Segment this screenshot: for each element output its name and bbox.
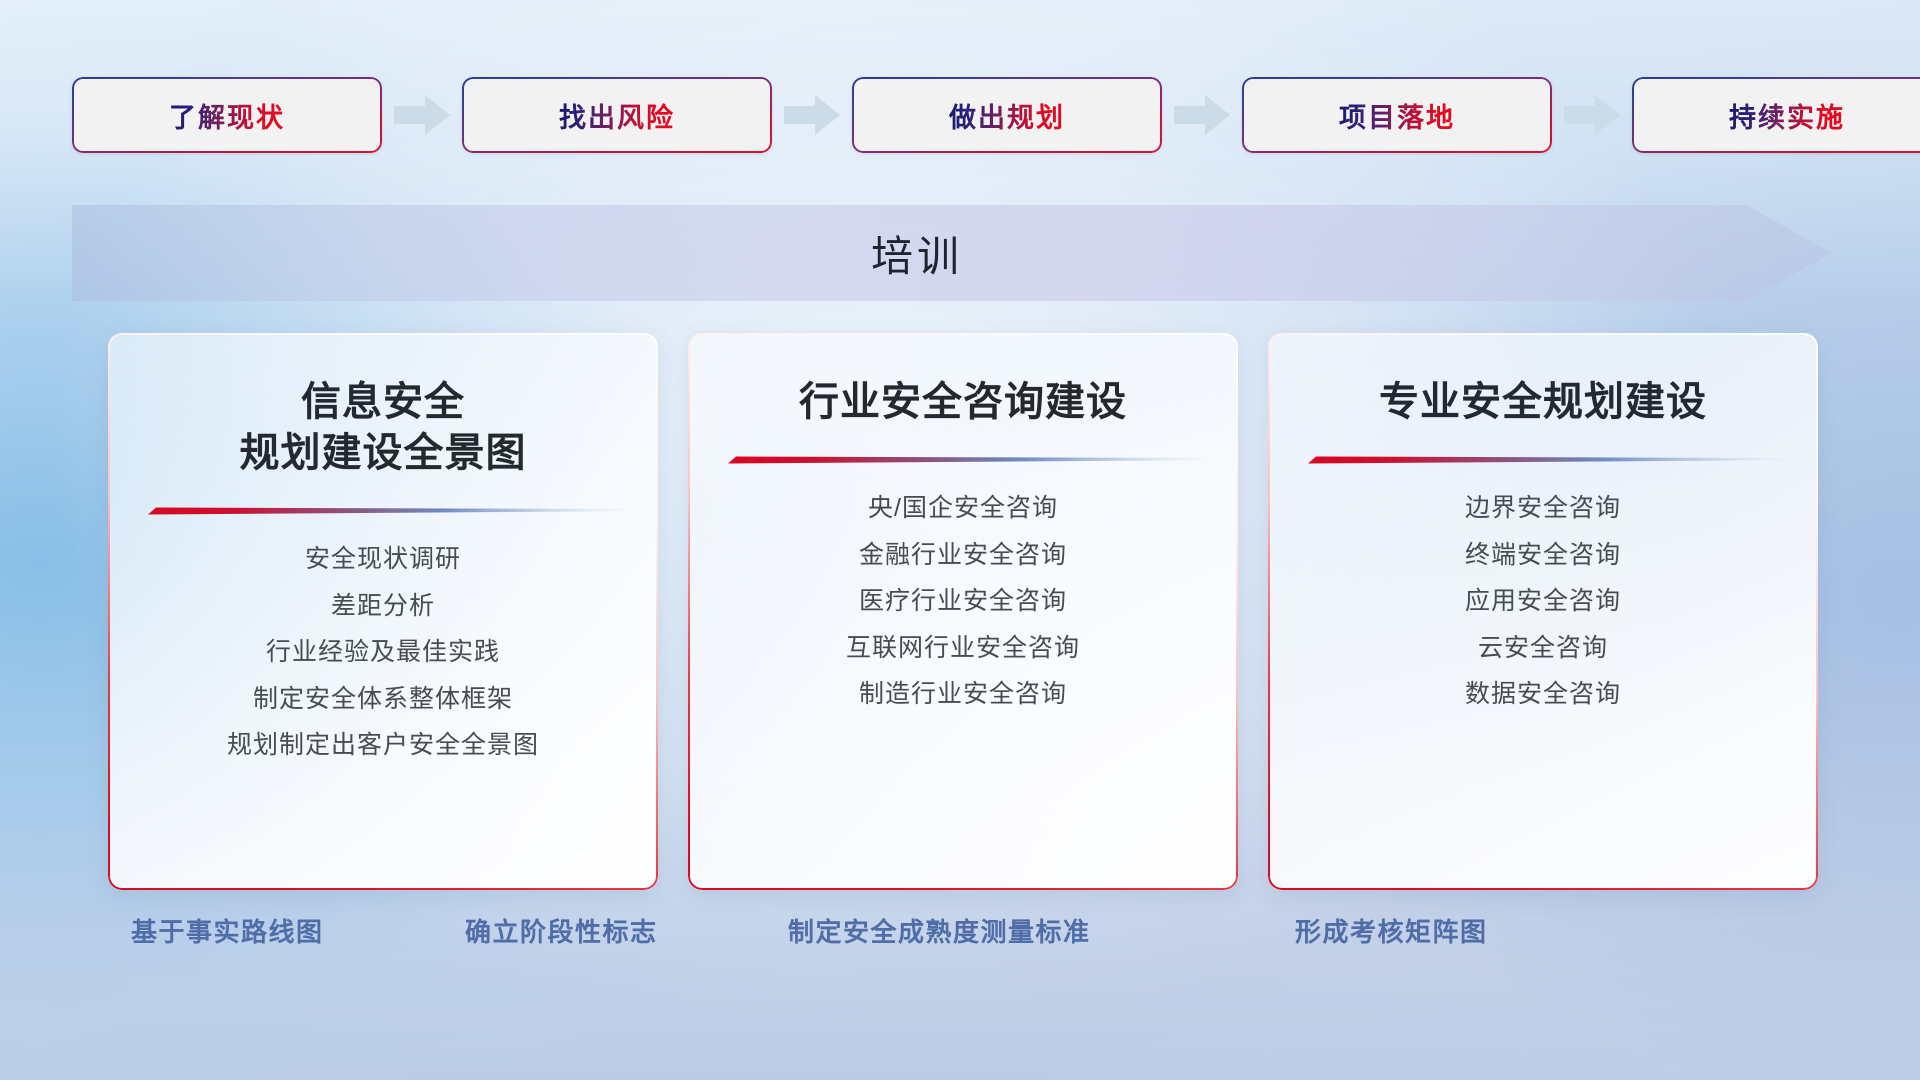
outcome-caption-4: 形成考核矩阵图 bbox=[1295, 912, 1488, 949]
step-arrow-icon bbox=[784, 95, 840, 135]
service-card-divider bbox=[722, 454, 1204, 466]
service-card-1[interactable]: 信息安全 规划建设全景图安全现状调研差距分析行业经验及最佳实践制定安全体系整体框… bbox=[108, 333, 658, 890]
step-arrow-icon bbox=[1174, 95, 1230, 135]
caption-row: 基于事实路线图确立阶段性标志制定安全成熟度测量标准形成考核矩阵图 bbox=[0, 912, 1920, 958]
service-card-title: 行业安全咨询建设 bbox=[799, 377, 1127, 428]
training-banner-title: 培训 bbox=[72, 205, 1832, 301]
process-step-flow: 了解现状找出风险做出规划项目落地持续实施 bbox=[72, 77, 1850, 153]
process-step-label: 了解现状 bbox=[169, 96, 285, 135]
service-card-list-item: 规划制定出客户安全全景图 bbox=[227, 729, 539, 762]
service-card-2[interactable]: 行业安全咨询建设央/国企安全咨询金融行业安全咨询医疗行业安全咨询互联网行业安全咨… bbox=[688, 333, 1238, 890]
service-card-list: 央/国企安全咨询金融行业安全咨询医疗行业安全咨询互联网行业安全咨询制造行业安全咨… bbox=[722, 492, 1204, 711]
service-card-divider bbox=[142, 505, 624, 517]
outcome-caption-2: 确立阶段性标志 bbox=[465, 912, 658, 949]
process-step-1[interactable]: 了解现状 bbox=[72, 77, 382, 153]
process-step-5[interactable]: 持续实施 bbox=[1632, 77, 1920, 153]
step-arrow-icon bbox=[1564, 95, 1620, 135]
process-step-label: 项目落地 bbox=[1339, 96, 1455, 135]
service-card-list-item: 金融行业安全咨询 bbox=[859, 539, 1067, 572]
step-arrow-icon bbox=[394, 95, 450, 135]
service-card-list-item: 医疗行业安全咨询 bbox=[859, 585, 1067, 618]
service-card-title: 专业安全规划建设 bbox=[1379, 377, 1707, 428]
service-card-list-item: 终端安全咨询 bbox=[1465, 539, 1621, 572]
process-step-label: 持续实施 bbox=[1729, 96, 1845, 135]
service-card-body: 专业安全规划建设边界安全咨询终端安全咨询应用安全咨询云安全咨询数据安全咨询 bbox=[1268, 333, 1818, 890]
process-step-label: 做出规划 bbox=[949, 96, 1065, 135]
service-card-list-item: 行业经验及最佳实践 bbox=[266, 636, 500, 669]
service-card-3[interactable]: 专业安全规划建设边界安全咨询终端安全咨询应用安全咨询云安全咨询数据安全咨询 bbox=[1268, 333, 1818, 890]
service-card-list-item: 互联网行业安全咨询 bbox=[846, 632, 1080, 665]
service-card-list: 安全现状调研差距分析行业经验及最佳实践制定安全体系整体框架规划制定出客户安全全景… bbox=[142, 543, 624, 762]
service-card-title: 信息安全 规划建设全景图 bbox=[240, 377, 527, 479]
service-card-list-item: 应用安全咨询 bbox=[1465, 585, 1621, 618]
service-card-list-item: 央/国企安全咨询 bbox=[868, 492, 1058, 525]
service-card-list-item: 安全现状调研 bbox=[305, 543, 461, 576]
process-step-3[interactable]: 做出规划 bbox=[852, 77, 1162, 153]
outcome-caption-1: 基于事实路线图 bbox=[131, 912, 324, 949]
service-card-list: 边界安全咨询终端安全咨询应用安全咨询云安全咨询数据安全咨询 bbox=[1302, 492, 1784, 711]
training-banner: 培训 bbox=[72, 205, 1832, 301]
service-card-list-item: 差距分析 bbox=[331, 590, 435, 623]
service-card-list-item: 制定安全体系整体框架 bbox=[253, 683, 513, 716]
service-card-list-item: 制造行业安全咨询 bbox=[859, 678, 1067, 711]
service-card-group: 信息安全 规划建设全景图安全现状调研差距分析行业经验及最佳实践制定安全体系整体框… bbox=[108, 333, 1818, 890]
process-step-4[interactable]: 项目落地 bbox=[1242, 77, 1552, 153]
outcome-caption-3: 制定安全成熟度测量标准 bbox=[788, 912, 1091, 949]
service-card-body: 行业安全咨询建设央/国企安全咨询金融行业安全咨询医疗行业安全咨询互联网行业安全咨… bbox=[688, 333, 1238, 890]
process-step-2[interactable]: 找出风险 bbox=[462, 77, 772, 153]
service-card-body: 信息安全 规划建设全景图安全现状调研差距分析行业经验及最佳实践制定安全体系整体框… bbox=[108, 333, 658, 890]
service-card-list-item: 边界安全咨询 bbox=[1465, 492, 1621, 525]
service-card-list-item: 数据安全咨询 bbox=[1465, 678, 1621, 711]
service-card-list-item: 云安全咨询 bbox=[1478, 632, 1608, 665]
service-card-divider bbox=[1302, 454, 1784, 466]
process-step-label: 找出风险 bbox=[559, 96, 675, 135]
